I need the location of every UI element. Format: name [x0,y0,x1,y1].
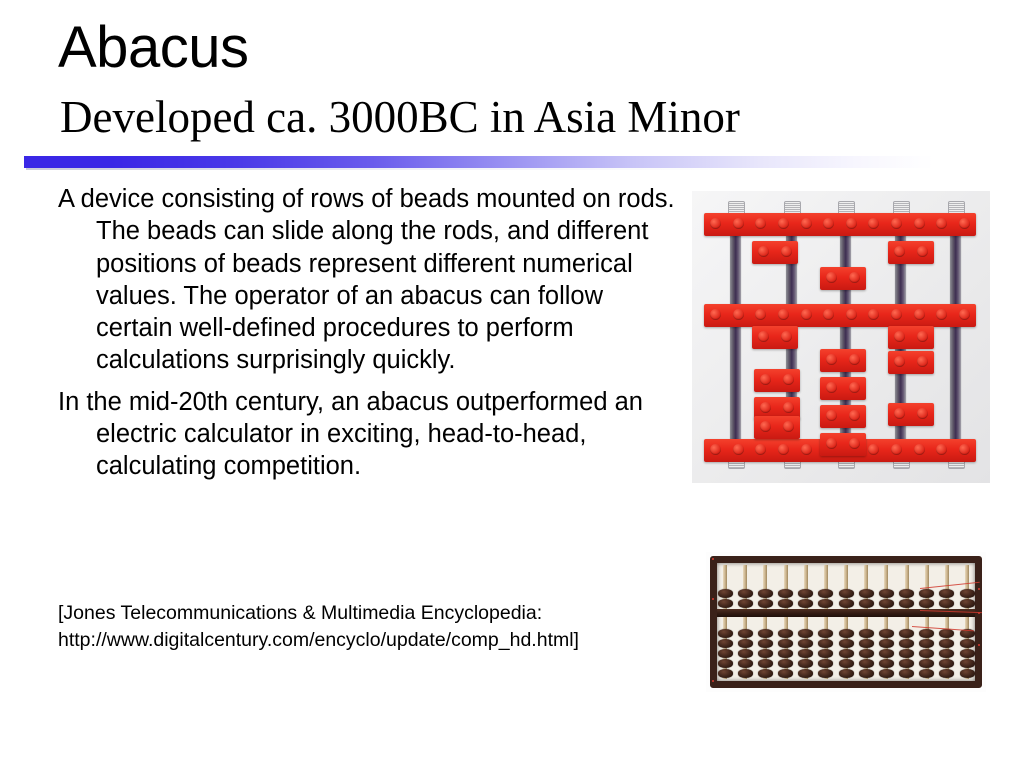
abacus-bead-lower [859,639,874,648]
abacus-bead-lower [939,649,954,658]
abacus-bead-lower [758,649,773,658]
abacus-bead-upper [818,599,833,608]
lego-stud [849,354,860,365]
abacus-bead-upper [738,599,753,608]
lego-stud [868,444,879,455]
lego-stud [936,444,947,455]
abacus-bead-upper [919,599,934,608]
abacus-bead-lower [778,639,793,648]
abacus-bead-lower [718,649,733,658]
lego-stud [783,402,794,413]
page-title: Abacus [58,16,248,80]
lego-stud [760,421,771,432]
abacus-bead-lower [798,649,813,658]
lego-stud [936,218,947,229]
lego-stud [894,408,905,419]
lego-stud [914,309,925,320]
abacus-bead-upper [778,599,793,608]
lego-stud [801,218,812,229]
citation-line-1: [Jones Telecommunications & Multimedia E… [58,600,698,627]
abacus-bead-lower [758,639,773,648]
abacus-bead-lower [960,649,975,658]
lego-stud [758,331,769,342]
abacus-bead-lower [859,669,874,678]
abacus-bead-upper [939,589,954,598]
abacus-bead-lower [738,669,753,678]
abacus-bead-lower [778,629,793,638]
abacus-bead-lower [919,669,934,678]
lego-bead-6 [888,351,934,374]
abacus-bead-lower [960,639,975,648]
abacus-bead-upper [758,589,773,598]
abacus-bead-upper [859,599,874,608]
lego-stud [823,218,834,229]
abacus-bead-lower [738,639,753,648]
lego-stud [917,408,928,419]
abacus-bead-lower [879,629,894,638]
lego-rod [950,209,961,459]
abacus-bead-lower [879,639,894,648]
abacus-bead-lower [718,629,733,638]
lego-stud [733,218,744,229]
abacus-bead-upper [879,589,894,598]
abacus-bead-upper [818,589,833,598]
lego-stud [783,374,794,385]
abacus-bead-lower [718,659,733,668]
lego-bead-3 [820,267,866,290]
abacus-bead-upper [919,589,934,598]
lego-abacus-photo [692,191,990,483]
lego-stud [849,272,860,283]
abacus-bead-lower [879,669,894,678]
lego-bead-10 [754,369,800,392]
abacus-bead-lower [798,669,813,678]
abacus-bead-lower [839,629,854,638]
abacus-bead-lower [818,669,833,678]
lego-stud [959,444,970,455]
lego-bead-5 [888,326,934,349]
lego-stud [826,382,837,393]
lego-stud [891,309,902,320]
abacus-bead-lower [818,639,833,648]
abacus-bead-lower [919,659,934,668]
lego-stud [914,218,925,229]
abacus-bead-upper [718,599,733,608]
abacus-bead-lower [919,629,934,638]
abacus-bead-upper [738,589,753,598]
abacus-bead-lower [818,659,833,668]
abacus-bead-lower [960,669,975,678]
abacus-bead-upper [899,589,914,598]
lego-stud [894,331,905,342]
lego-bead-14 [820,433,866,456]
lego-rod [730,209,741,459]
lego-bead-2 [888,241,934,264]
abacus-bead-lower [939,639,954,648]
abacus-bead-lower [899,669,914,678]
lego-stud [849,438,860,449]
lego-stud [846,309,857,320]
citation-line-2: http://www.digitalcentury.com/encyclo/up… [58,627,698,654]
lego-stud [781,331,792,342]
annotation-marker-4 [978,588,980,590]
lego-stud [778,309,789,320]
lego-stud [801,444,812,455]
lego-stud [778,444,789,455]
body-text-column: A device consisting of rows of beads mou… [58,183,678,492]
annotation-marker-3 [712,680,714,682]
abacus-bead-lower [899,649,914,658]
abacus-bead-upper [939,599,954,608]
abacus-bead-lower [960,659,975,668]
body-paragraph-2: In the mid-20th century, an abacus outpe… [58,386,678,483]
lego-stud [733,309,744,320]
abacus-bead-lower [758,659,773,668]
lego-stud [917,356,928,367]
lego-stud [783,421,794,432]
wooden-abacus-render [710,556,982,688]
lego-stud [936,309,947,320]
abacus-bead-lower [818,649,833,658]
abacus-bead-lower [859,629,874,638]
lego-bead-4 [752,326,798,349]
abacus-bead-lower [879,649,894,658]
title-divider-bar [24,156,992,168]
abacus-bead-lower [839,659,854,668]
lego-bead-7 [820,349,866,372]
abacus-bead-lower [778,659,793,668]
lego-bead-8 [820,377,866,400]
lego-bead-12 [888,403,934,426]
abacus-bead-upper [758,599,773,608]
lego-stud [914,444,925,455]
abacus-bead-lower [778,669,793,678]
lego-stud [778,218,789,229]
lego-stud [894,356,905,367]
title-divider-shadow [26,168,992,170]
abacus-bead-upper [859,589,874,598]
abacus-bead-lower [738,629,753,638]
lego-stud [868,218,879,229]
body-paragraph-1: A device consisting of rows of beads mou… [58,183,678,377]
abacus-bead-upper [798,589,813,598]
lego-stud [894,246,905,257]
lego-stud [710,309,721,320]
abacus-bead-upper [960,599,975,608]
abacus-bead-lower [939,669,954,678]
lego-stud [917,331,928,342]
lego-stud [826,438,837,449]
lego-stud [755,444,766,455]
lego-stud [823,309,834,320]
page-subtitle: Developed ca. 3000BC in Asia Minor [60,92,740,142]
wooden-abacus-photo [706,552,986,692]
abacus-bead-lower [798,659,813,668]
lego-stud [760,402,771,413]
abacus-bead-lower [899,639,914,648]
lego-stud [846,218,857,229]
abacus-bead-lower [758,669,773,678]
abacus-bead-lower [919,649,934,658]
abacus-bead-upper [839,589,854,598]
abacus-bead-lower [899,659,914,668]
abacus-bead-lower [919,639,934,648]
abacus-bead-lower [939,659,954,668]
lego-stud [959,218,970,229]
abacus-bead-upper [879,599,894,608]
annotation-marker-5 [978,612,980,614]
lego-stud [891,218,902,229]
lego-stud [760,374,771,385]
abacus-bead-upper [960,589,975,598]
abacus-bead-lower [839,649,854,658]
lego-stud [917,246,928,257]
annotation-marker-6 [978,644,980,646]
lego-stud [959,309,970,320]
lego-stud [868,309,879,320]
abacus-bead-upper [839,599,854,608]
lego-stud [849,382,860,393]
lego-stud [891,444,902,455]
lego-stud [710,218,721,229]
lego-stud [781,246,792,257]
lego-stud [826,272,837,283]
abacus-bead-lower [859,659,874,668]
lego-stud [710,444,721,455]
abacus-bead-lower [798,629,813,638]
abacus-bead-lower [758,629,773,638]
lego-bead-13 [754,416,800,439]
abacus-bead-lower [798,639,813,648]
abacus-bead-upper [798,599,813,608]
annotation-marker-2 [712,598,714,600]
lego-stud [826,354,837,365]
annotation-marker-1 [712,558,714,560]
lego-stud [849,410,860,421]
abacus-bead-lower [738,649,753,658]
lego-cross-bar-1 [704,213,976,236]
lego-stud [826,410,837,421]
abacus-bead-lower [839,669,854,678]
citation-block: [Jones Telecommunications & Multimedia E… [58,600,698,654]
abacus-bead-lower [879,659,894,668]
abacus-bead-upper [899,599,914,608]
abacus-bead-lower [778,649,793,658]
abacus-bead-upper [718,589,733,598]
lego-stud [755,218,766,229]
lego-stud [733,444,744,455]
lego-stud [801,309,812,320]
abacus-bead-lower [859,649,874,658]
abacus-bead-lower [718,639,733,648]
lego-bead-1 [752,241,798,264]
abacus-bead-lower [839,639,854,648]
lego-cross-bar-2 [704,304,976,327]
lego-stud [755,309,766,320]
lego-abacus-render [692,191,990,483]
abacus-bead-lower [899,629,914,638]
slide: Abacus Developed ca. 3000BC in Asia Mino… [0,0,1024,768]
abacus-bead-lower [939,629,954,638]
abacus-bead-lower [818,629,833,638]
abacus-bead-lower [738,659,753,668]
abacus-bead-lower [718,669,733,678]
lego-stud [758,246,769,257]
abacus-bead-upper [778,589,793,598]
lego-bead-9 [820,405,866,428]
